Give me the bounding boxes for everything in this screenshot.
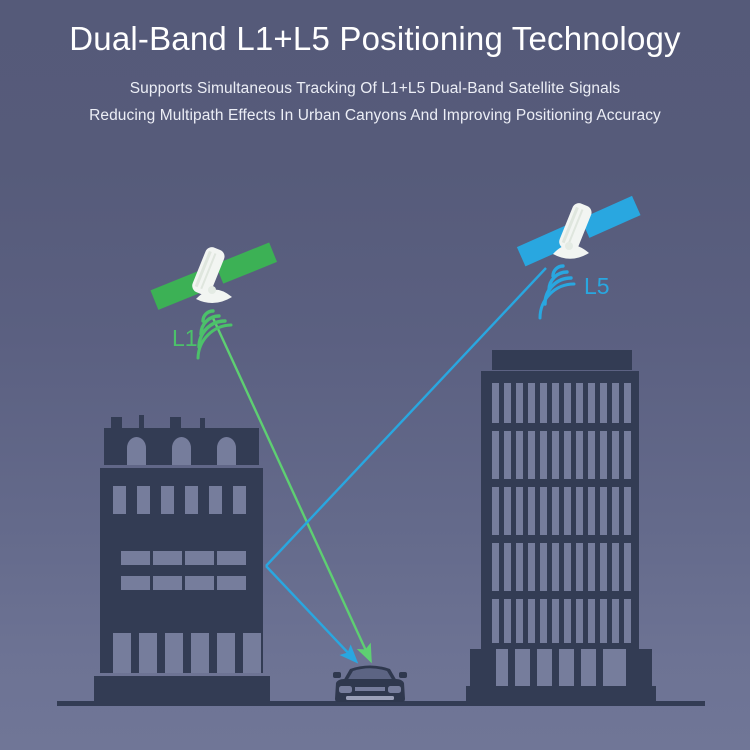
side-mirror xyxy=(333,672,341,678)
signal-arc-group xyxy=(540,266,574,318)
side-mirror xyxy=(399,672,407,678)
page-title: Dual-Band L1+L5 Positioning Technology xyxy=(69,20,681,58)
dish-feed xyxy=(565,242,573,250)
poster-canvas: Dual-Band L1+L5 Positioning Technology S… xyxy=(0,0,750,750)
satellite-l1: L1 xyxy=(150,242,277,358)
roof-cap xyxy=(492,350,632,370)
headlight-left xyxy=(339,686,352,693)
roof-cap xyxy=(139,415,144,428)
subtitle-line-1: Supports Simultaneous Tracking Of L1+L5 … xyxy=(130,80,621,98)
grille xyxy=(355,687,385,691)
header: Dual-Band L1+L5 Positioning Technology S… xyxy=(0,0,750,170)
arched-window xyxy=(217,437,236,465)
satellite-label-l1: L1 xyxy=(172,325,198,351)
arched-window xyxy=(127,437,146,465)
left-building xyxy=(94,415,270,704)
base-slab xyxy=(470,649,652,691)
roof-cap xyxy=(200,418,205,428)
arched-window xyxy=(172,437,191,465)
bumper xyxy=(346,696,394,700)
subtitle-block: Supports Simultaneous Tracking Of L1+L5 … xyxy=(89,80,661,125)
headlight-right xyxy=(388,686,401,693)
roof-cap xyxy=(111,417,122,428)
subtitle-line-2: Reducing Multipath Effects In Urban Cany… xyxy=(89,107,661,125)
satellite-label-l5: L5 xyxy=(584,273,610,299)
solar-panel-right xyxy=(215,242,277,283)
building-base xyxy=(94,676,270,704)
right-building xyxy=(466,350,656,704)
signal-arc-group xyxy=(198,311,231,358)
car xyxy=(333,666,407,703)
roof-cap xyxy=(170,417,181,428)
dish-feed xyxy=(208,286,216,294)
satellite-l5: L5 xyxy=(517,196,641,318)
